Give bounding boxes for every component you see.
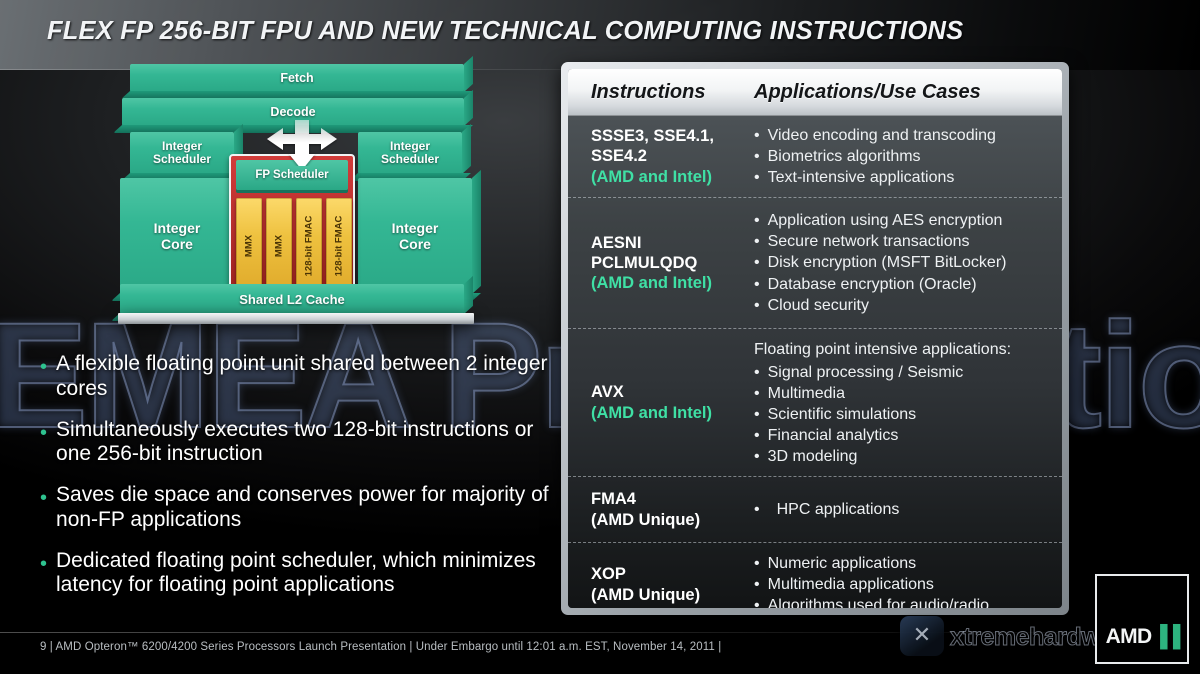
use-case-text: Numeric applications: [768, 553, 917, 574]
instruction-vendor: (AMD and Intel): [591, 167, 754, 187]
use-case-text: Signal processing / Seismic: [768, 362, 964, 383]
use-case-item: •Secure network transactions: [754, 231, 1048, 252]
diagram-block-fetch: Fetch: [130, 64, 464, 92]
bullet-dot-icon: •: [754, 425, 760, 446]
instruction-vendor: (AMD and Intel): [591, 403, 754, 423]
table-cell-applications: •HPC applications: [754, 486, 1062, 533]
use-case-item: •Multimedia: [754, 383, 1048, 404]
diagram-base-plate: [118, 313, 474, 324]
list-item: • Simultaneously executes two 128-bit in…: [40, 418, 550, 468]
bullet-dot-icon: •: [754, 446, 760, 467]
diagram-unit-1: MMX: [266, 198, 292, 294]
bullet-dot-icon: •: [754, 146, 760, 167]
bullet-dot-icon: •: [754, 553, 760, 574]
use-case-text: Multimedia: [768, 383, 845, 404]
bullet-dot-icon: •: [754, 383, 760, 404]
table-cell-applications: •Numeric applications •Multimedia applic…: [754, 552, 1062, 608]
instructions-table-panel: Instructions Applications/Use Cases SSSE…: [561, 62, 1069, 615]
bullet-dot-icon: •: [754, 231, 760, 252]
diagram-block-fp-scheduler: FP Scheduler: [236, 160, 348, 190]
instruction-name: AVX: [591, 382, 754, 402]
instructions-table: Instructions Applications/Use Cases SSSE…: [568, 69, 1062, 608]
cpu-block-diagram: Fetch Decode Integer Scheduler Integer S…: [112, 62, 484, 322]
bullet-dot-icon: •: [754, 167, 760, 188]
xtremehardware-badge-icon: [900, 616, 944, 656]
use-case-text: Cloud security: [768, 295, 869, 316]
diagram-fp-unit-region: FP Scheduler MMX MMX 128-bit FMAC 128-bi…: [229, 154, 355, 298]
instruction-vendor: (AMD and Intel): [591, 273, 754, 293]
use-case-item: •3D modeling: [754, 446, 1048, 467]
amd-wordmark: AMD: [1106, 625, 1152, 648]
bullet-text: A flexible floating point unit shared be…: [56, 352, 550, 402]
use-case-text: Biometrics algorithms: [768, 146, 921, 167]
bullet-text: Simultaneously executes two 128-bit inst…: [56, 418, 550, 468]
use-case-item: •Financial analytics: [754, 425, 1048, 446]
use-case-text: Text-intensive applications: [768, 167, 955, 188]
use-case-item: •Application using AES encryption: [754, 210, 1048, 231]
instruction-vendor: (AMD Unique): [591, 585, 754, 605]
diagram-block-integer-scheduler-left: Integer Scheduler: [130, 132, 234, 174]
integer-core-left-label: Integer Core: [154, 220, 201, 252]
bullet-dot-icon: •: [40, 357, 47, 402]
table-row: SSSE3, SSE4.1, SSE4.2 (AMD and Intel) •V…: [568, 116, 1062, 197]
diagram-unit-2-label: 128-bit FMAC: [304, 216, 315, 277]
list-item: • Saves die space and conserves power fo…: [40, 483, 550, 533]
table-cell-instruction: AESNI PCLMULQDQ (AMD and Intel): [568, 207, 754, 319]
use-case-item: •Database encryption (Oracle): [754, 274, 1048, 295]
use-case-text: Scientific simulations: [768, 404, 917, 425]
use-case-text: Secure network transactions: [768, 231, 970, 252]
instruction-name: FMA4: [591, 489, 754, 509]
diagram-unit-0: MMX: [236, 198, 262, 294]
table-row: AESNI PCLMULQDQ (AMD and Intel) •Applica…: [568, 197, 1062, 328]
diagram-unit-3-label: 128-bit FMAC: [334, 216, 345, 277]
bullet-dot-icon: •: [40, 488, 47, 533]
page-title: FLEX FP 256-BIT FPU AND NEW TECHNICAL CO…: [47, 17, 963, 46]
feature-bullet-list: • A flexible floating point unit shared …: [40, 352, 550, 614]
use-case-item: •HPC applications: [754, 499, 1048, 520]
use-case-item: •Biometrics algorithms: [754, 146, 1048, 167]
bullet-dot-icon: •: [40, 423, 47, 468]
use-case-item: •Text-intensive applications: [754, 167, 1048, 188]
bullet-text: Dedicated floating point scheduler, whic…: [56, 549, 550, 599]
use-case-text: Algorithms used for audio/radio: [768, 595, 989, 608]
use-case-text: Multimedia applications: [768, 574, 934, 595]
use-case-item: •Algorithms used for audio/radio: [754, 595, 1048, 608]
bullet-dot-icon: •: [40, 554, 47, 599]
bullet-dot-icon: •: [754, 595, 760, 608]
table-row: AVX (AMD and Intel) Floating point inten…: [568, 328, 1062, 476]
use-case-text: Financial analytics: [768, 425, 899, 446]
integer-scheduler-right-label: Integer Scheduler: [381, 140, 439, 167]
bullet-dot-icon: •: [754, 404, 760, 425]
list-item: • A flexible floating point unit shared …: [40, 352, 550, 402]
bullet-dot-icon: •: [754, 574, 760, 595]
instruction-name: XOP: [591, 564, 754, 584]
column-header-instructions: Instructions: [591, 81, 705, 103]
table-cell-applications: •Application using AES encryption •Secur…: [754, 207, 1062, 319]
use-case-item: •Scientific simulations: [754, 404, 1048, 425]
diagram-unit-1-label: MMX: [274, 235, 285, 257]
footer-text: 9 | AMD Opteron™ 6200/4200 Series Proces…: [40, 641, 721, 653]
diagram-unit-0-label: MMX: [244, 235, 255, 257]
use-case-lead: Floating point intensive applications:: [754, 340, 1048, 361]
diagram-unit-3: 128-bit FMAC: [326, 198, 352, 294]
bullet-dot-icon: •: [754, 252, 760, 273]
use-case-item: •Video encoding and transcoding: [754, 125, 1048, 146]
use-case-item: •Numeric applications: [754, 553, 1048, 574]
use-case-text: Video encoding and transcoding: [768, 125, 996, 146]
use-case-item: •Cloud security: [754, 295, 1048, 316]
table-row: XOP (AMD Unique) •Numeric applications •…: [568, 542, 1062, 608]
slide-canvas: EMEA Presentation FLEX FP 256-BIT FPU AN…: [0, 0, 1200, 674]
use-case-text: HPC applications: [777, 499, 900, 520]
diagram-block-integer-core-right: Integer Core: [358, 178, 472, 294]
use-case-text: 3D modeling: [768, 446, 858, 467]
column-header-applications-cell: Applications/Use Cases: [754, 81, 1062, 104]
table-header-row: Instructions Applications/Use Cases: [568, 69, 1062, 116]
list-item: • Dedicated floating point scheduler, wh…: [40, 549, 550, 599]
diagram-block-integer-scheduler-right: Integer Scheduler: [358, 132, 462, 174]
use-case-text: Database encryption (Oracle): [768, 274, 977, 295]
column-header-instructions-cell: Instructions: [568, 81, 754, 104]
bullet-text: Saves die space and conserves power for …: [56, 483, 550, 533]
table-cell-instruction: AVX (AMD and Intel): [568, 338, 754, 467]
bullet-dot-icon: •: [754, 274, 760, 295]
use-case-text: Disk encryption (MSFT BitLocker): [768, 252, 1007, 273]
use-case-text: Application using AES encryption: [768, 210, 1003, 231]
table-cell-applications: •Video encoding and transcoding •Biometr…: [754, 125, 1062, 188]
bullet-dot-icon: •: [754, 499, 760, 520]
integer-core-right-label: Integer Core: [392, 220, 439, 252]
diagram-execution-units: MMX MMX 128-bit FMAC 128-bit FMAC: [236, 198, 352, 294]
use-case-item: •Signal processing / Seismic: [754, 362, 1048, 383]
instruction-name: SSSE3, SSE4.1, SSE4.2: [591, 126, 754, 166]
bullet-dot-icon: •: [754, 125, 760, 146]
table-cell-instruction: SSSE3, SSE4.1, SSE4.2 (AMD and Intel): [568, 125, 754, 188]
column-header-applications: Applications/Use Cases: [754, 81, 981, 103]
use-case-item: •Disk encryption (MSFT BitLocker): [754, 252, 1048, 273]
diagram-block-decode: Decode: [122, 98, 464, 126]
diagram-block-integer-core-left: Integer Core: [120, 178, 234, 294]
table-body: SSSE3, SSE4.1, SSE4.2 (AMD and Intel) •V…: [568, 116, 1062, 608]
table-cell-instruction: FMA4 (AMD Unique): [568, 486, 754, 533]
use-case-item: •Multimedia applications: [754, 574, 1048, 595]
integer-scheduler-left-label: Integer Scheduler: [153, 140, 211, 167]
diagram-block-shared-l2-cache: Shared L2 Cache: [120, 284, 464, 314]
diagram-unit-2: 128-bit FMAC: [296, 198, 322, 294]
amd-arrow-mark-icon: ▐▐: [1153, 625, 1179, 648]
table-row: FMA4 (AMD Unique) •HPC applications: [568, 476, 1062, 542]
bullet-dot-icon: •: [754, 210, 760, 231]
bullet-dot-icon: •: [754, 362, 760, 383]
bullet-dot-icon: •: [754, 295, 760, 316]
instruction-vendor: (AMD Unique): [591, 510, 754, 530]
amd-logo: AMD▐▐: [1097, 625, 1187, 649]
instruction-name: AESNI PCLMULQDQ: [591, 233, 754, 273]
amd-logo-box: AMD▐▐: [1095, 574, 1189, 664]
table-cell-instruction: XOP (AMD Unique): [568, 552, 754, 608]
footer-divider: [0, 632, 1200, 633]
table-cell-applications: Floating point intensive applications: •…: [754, 338, 1062, 467]
